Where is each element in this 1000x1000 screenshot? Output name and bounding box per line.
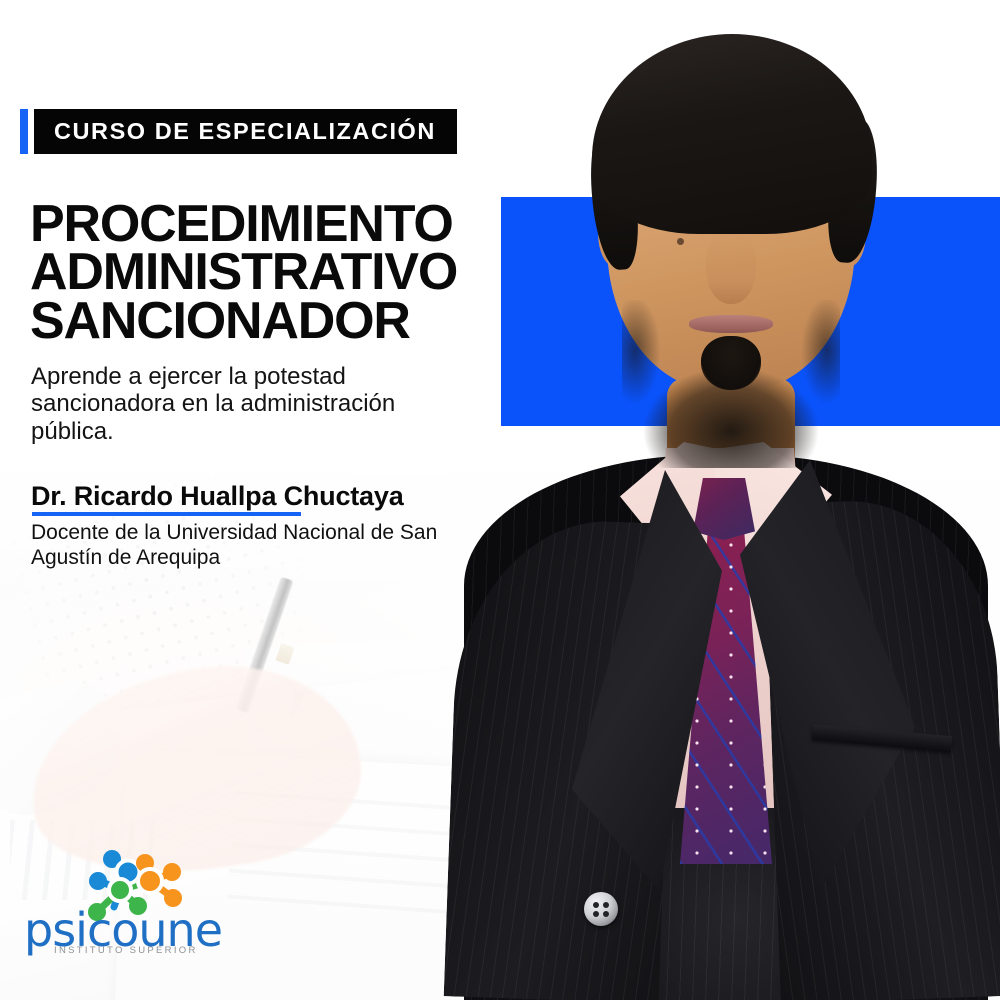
- psicoune-logo: psicoune INSTITUTO SUPERIOR: [24, 845, 209, 950]
- course-promo-poster: CURSO DE ESPECIALIZACIÓN PROCEDIMIENTO A…: [0, 0, 1000, 1000]
- mouth: [689, 315, 773, 333]
- goatee: [701, 336, 761, 390]
- course-title-line-3: SANCIONADOR: [30, 297, 500, 345]
- course-title-line-2: ADMINISTRATIVO: [30, 248, 500, 296]
- speaker-role: Docente de la Universidad Nacional de Sa…: [31, 521, 461, 571]
- jacket-button: [584, 892, 618, 926]
- nose: [706, 232, 756, 304]
- kicker-blue-bar: [20, 109, 28, 154]
- facial-mole: [677, 238, 684, 245]
- speaker-name-underline: [32, 512, 301, 516]
- necktie-knot: [693, 478, 755, 540]
- instructor-portrait: [452, 0, 1000, 1000]
- course-title-line-1: PROCEDIMIENTO: [30, 200, 500, 248]
- logo-tagline: INSTITUTO SUPERIOR: [54, 945, 214, 956]
- hair: [592, 34, 872, 234]
- course-title: PROCEDIMIENTO ADMINISTRATIVO SANCIONADOR: [30, 200, 500, 345]
- kicker-banner: CURSO DE ESPECIALIZACIÓN: [20, 109, 457, 154]
- speaker-name: Dr. Ricardo Huallpa Chuctaya: [31, 481, 404, 512]
- kicker-black-box: CURSO DE ESPECIALIZACIÓN: [34, 109, 457, 154]
- course-subtitle: Aprende a ejercer la potestad sancionado…: [31, 363, 471, 445]
- kicker-label: CURSO DE ESPECIALIZACIÓN: [54, 120, 436, 144]
